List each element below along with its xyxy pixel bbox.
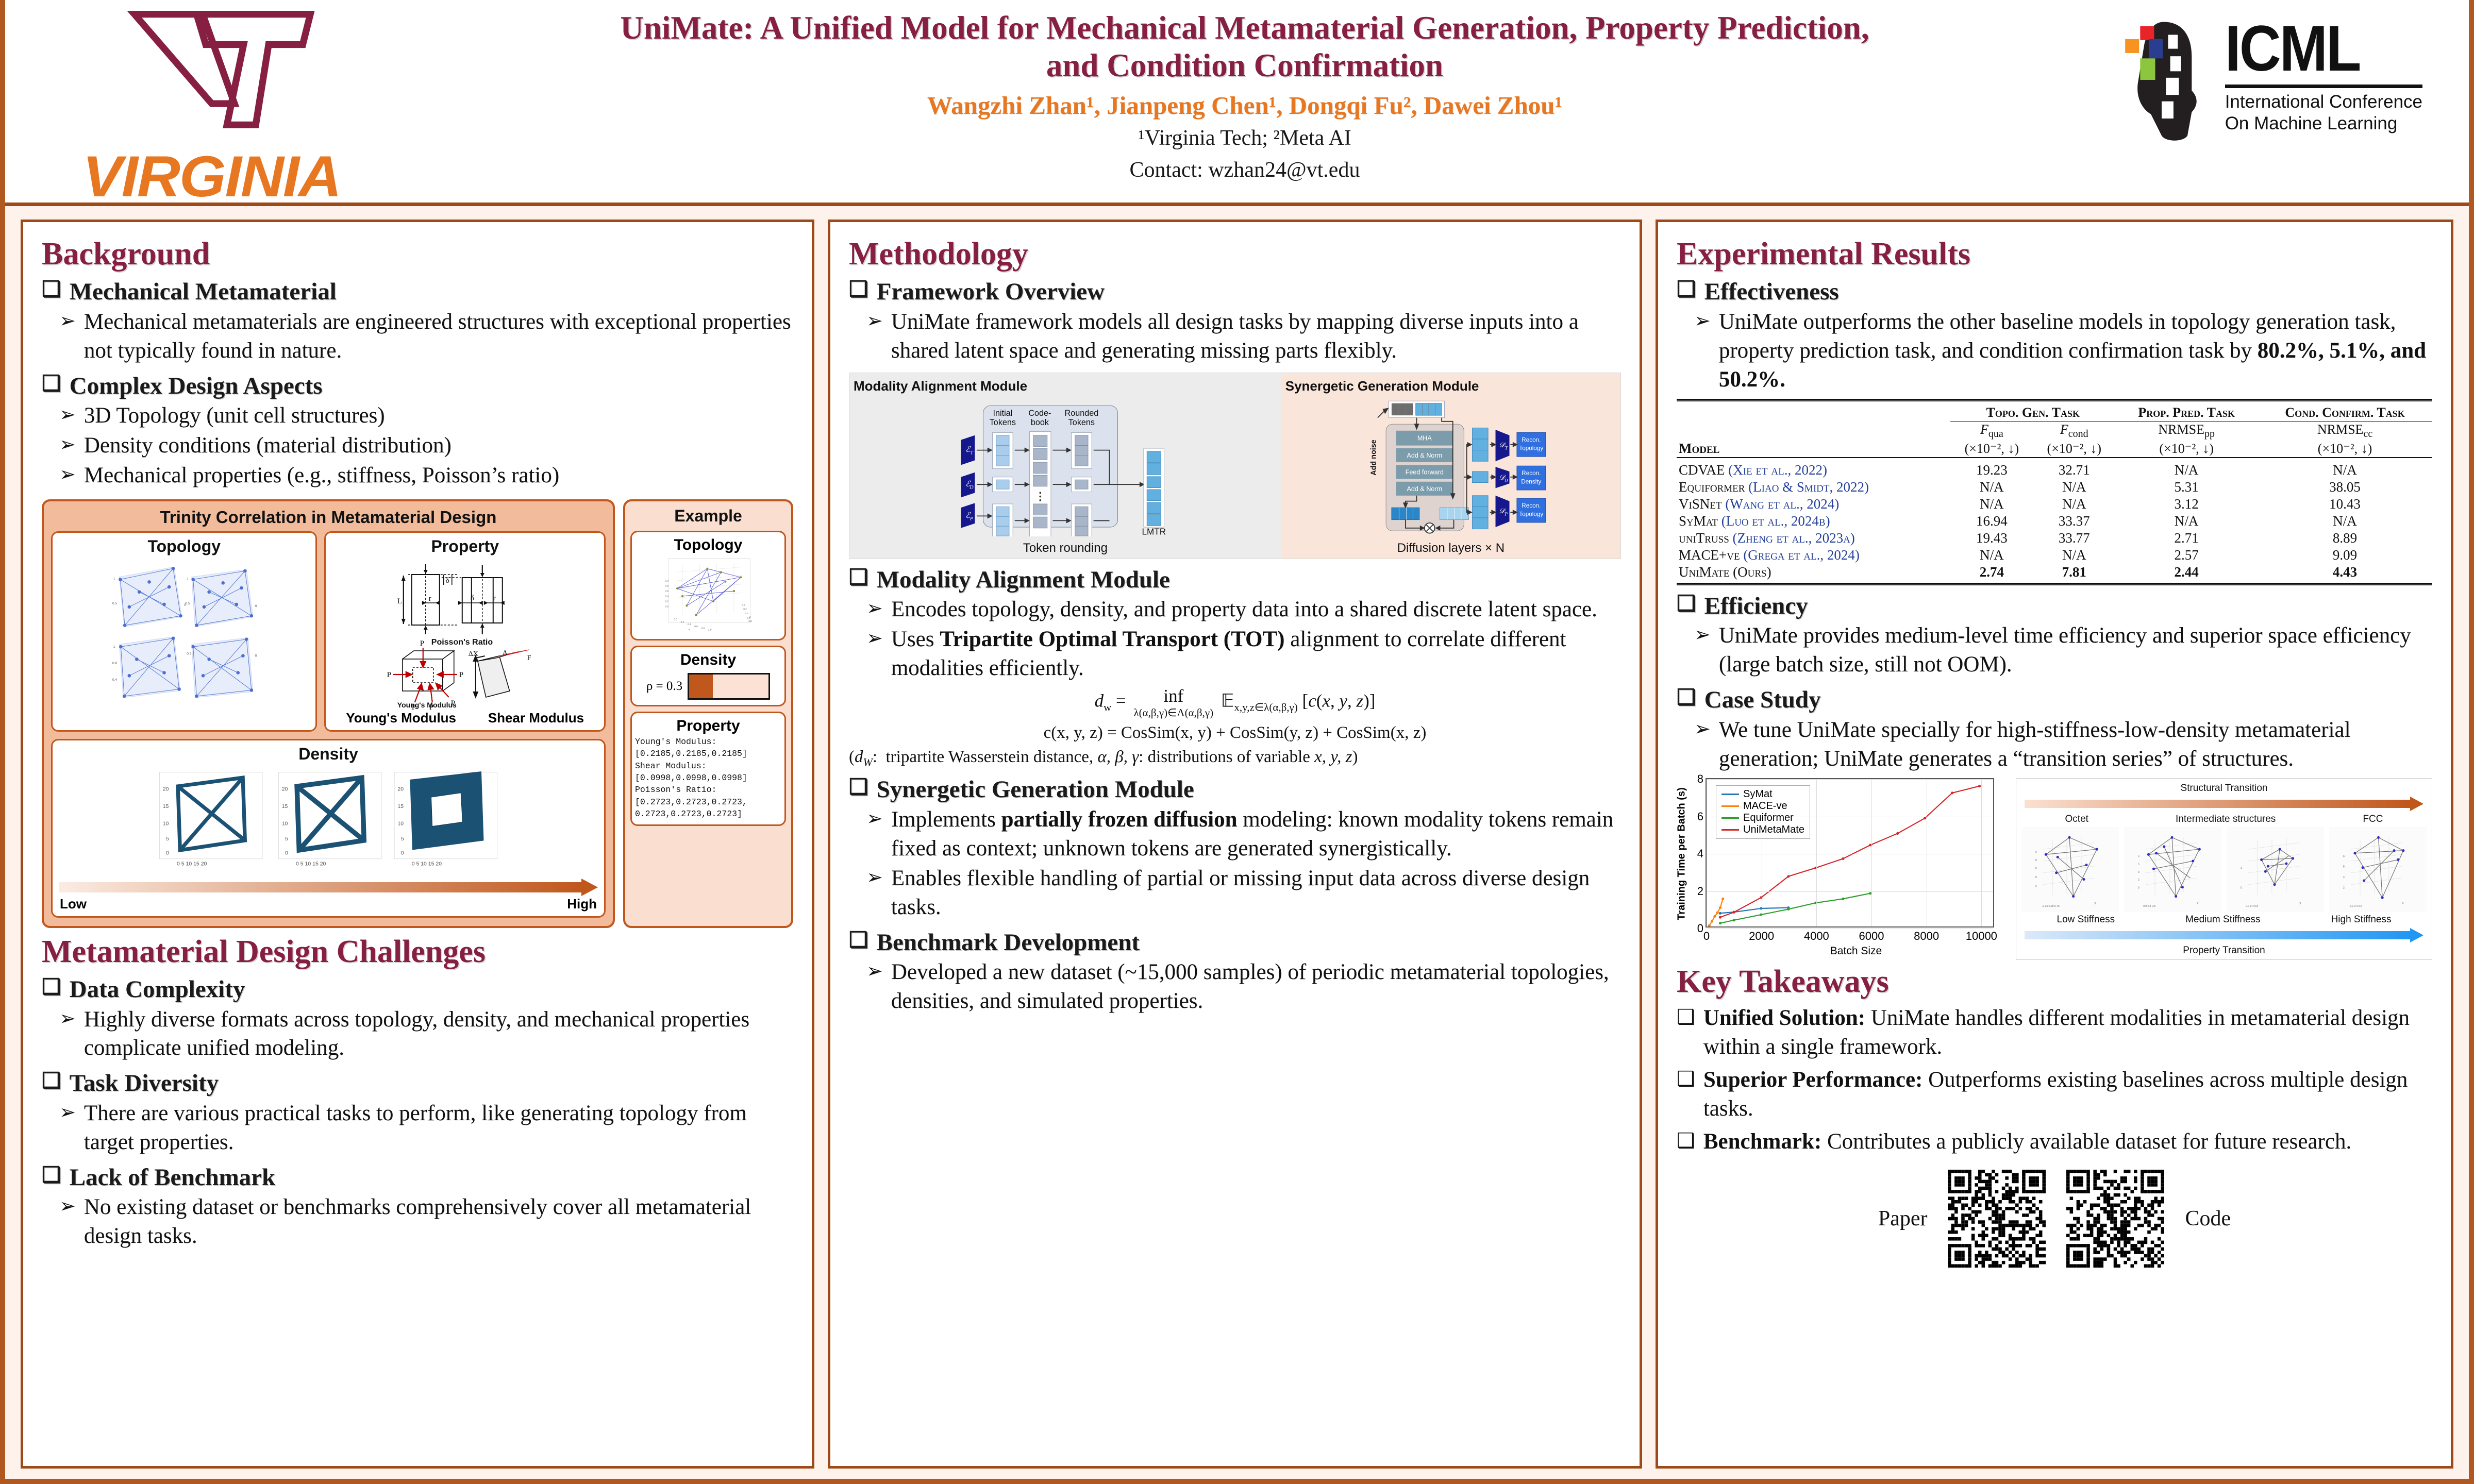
cell-value: N/A [2115,513,2258,530]
property-diagrams: Lr δr δ Poisson's Ratio [330,557,600,712]
x-axis-tick: 6000 [1859,926,1884,943]
poster-title-line-2: and Condition Confirmation [469,47,2020,85]
modality-alignment-module-title: Modality Alignment Module [854,378,1277,394]
contact-email: Contact: wzhan24@vt.edu [469,157,2020,184]
chart-marker [1951,792,1953,795]
svg-text:0.0: 0.0 [742,603,745,606]
transition-lattice-cells: 50505 -0.25 0.25 0.75X [2021,827,2427,912]
svg-text:1: 1 [113,577,115,581]
metric-sub: qua [1988,428,2003,440]
cell-value: 16.94 [1950,513,2033,530]
bullet-item: ➢ Density conditions (material distribut… [59,431,793,460]
topology-lattice-plots: 10.50 10.50 10.80.4 0.50 [57,557,311,712]
column-results: Experimental Results ❑ Effectiveness ➢ U… [1656,220,2453,1469]
section-title-challenges: Metamaterial Design Challenges [42,935,793,969]
chart-marker [1719,922,1721,924]
cell-value: 8.89 [2258,530,2432,547]
svg-text:0 5 10 15 20: 0 5 10 15 20 [296,861,326,867]
property-line: Young's Modulus: [635,736,781,748]
density-gradient-arrow [59,879,598,896]
example-property-label: Property [635,717,781,735]
density-voxel-plots: 20151050 20151050 20151050 0 5 10 15 20 … [57,765,600,873]
cell-value: N/A [2033,547,2115,564]
svg-text:5: 5 [2035,867,2037,870]
svg-text:0.2: 0.2 [681,620,684,623]
heading-mechanical-metamaterial: ❑ Mechanical Metamaterial [42,278,793,306]
svg-text:Initial: Initial [993,409,1012,418]
bullet-item: ➢ 3D Topology (unit cell structures) [59,401,793,430]
chart-marker [1787,908,1790,910]
svg-text:0.8: 0.8 [665,584,669,587]
figures-row: Training Time per Batch (s) SyMatMACE-ve… [1677,778,2432,960]
improvement-percentages: 80.2%, 5.1%, and 50.2%. [1719,339,2426,392]
property-line: [0.0998,0.0998,0.0998] [635,772,781,784]
arrow-bullet-icon: ➢ [866,864,883,922]
stiffness-label: Low Stiffness [2057,914,2115,925]
svg-text:ΔX: ΔX [469,650,478,658]
svg-text:δ: δ [446,577,449,585]
chart-marker [1713,915,1716,918]
svg-text:Add & Norm: Add & Norm [1407,452,1442,459]
chart-marker [1719,916,1721,919]
y-axis-tick: 8 [1697,772,1707,786]
svg-text:0: 0 [401,850,404,856]
equation-legend: (dW: tripartite Wasserstein distance, α,… [849,748,1621,769]
chart-series-svg [1707,779,1993,926]
arrow-bullet-icon: ➢ [59,401,76,430]
svg-text:0.8: 0.8 [701,627,705,629]
chart-marker [1716,912,1719,914]
affiliations: ¹Virginia Tech; ²Meta AI [469,125,2020,152]
trinity-figure: Trinity Correlation in Metamaterial Desi… [42,499,793,928]
svg-text:10: 10 [282,820,288,827]
checkbox-bullet-icon: ❑ [849,929,868,952]
poster-body: Background ❑ Mechanical Metamaterial ➢ M… [5,206,2469,1484]
metric-name: F [2060,422,2068,437]
svg-text:0: 0 [255,604,257,608]
arrow-bullet-icon: ➢ [59,461,76,490]
trinity-density-label: Density [57,745,600,764]
youngs-modulus-caption: Young's Modulus [346,710,456,726]
cell-value: N/A [2115,462,2258,479]
icml-logo: ICML International Conference On Machine… [2108,15,2422,144]
cell-value: N/A [2258,462,2432,479]
chart-marker [1842,898,1844,900]
svg-text:15: 15 [397,803,404,810]
svg-text:0.2: 0.2 [743,608,747,610]
arrow-bullet-icon: ➢ [1694,621,1711,679]
qr-code-label: Code [2185,1206,2231,1231]
structural-transition-arrow [2025,797,2423,811]
takeaway-label: Benchmark: [1703,1129,1821,1154]
structure-name: Octet [2065,814,2088,825]
svg-text:6: 6 [2138,855,2139,858]
model-name: uniTruss [1679,530,1729,546]
example-property-card: Property Young's Modulus: [0.2185,0.2185… [630,712,786,826]
trinity-panel: Trinity Correlation in Metamaterial Desi… [42,499,615,928]
arrow-bullet-icon: ➢ [866,308,883,365]
cell-value: 38.05 [2258,479,2432,496]
vt-mark-icon [113,5,356,134]
svg-text:Density: Density [1521,478,1541,485]
chart-marker [1719,906,1721,909]
example-density-label: Density [635,651,781,669]
svg-text:5: 5 [2343,866,2345,869]
table-row: ViSNet (Wang et al., 2024) N/A N/A 3.12 … [1677,496,2432,513]
heading-lack-of-benchmark: ❑ Lack of Benchmark [42,1164,793,1191]
cell-value: 2.44 [2115,564,2258,581]
svg-text:20: 20 [163,786,169,792]
heading-case-study: ❑ Case Study [1677,686,2432,714]
property-line: 0.2723,0.2723,0.2723] [635,808,781,820]
svg-text:Tokens: Tokens [990,418,1016,427]
lattice-intermediate-1: 65320 0.0 0.4 0.8X [2124,827,2221,912]
svg-text:0: 0 [255,654,257,657]
svg-text:15: 15 [163,803,169,810]
table-row: uniTruss (Zheng et al., 2023a) 19.43 33.… [1677,530,2432,547]
svg-text:0: 0 [2138,887,2139,890]
svg-text:MHA: MHA [1417,434,1432,442]
synergetic-generation-svg: Add noise MHAAdd & Norm [1285,397,1616,536]
metric-name: NRMSE [2317,422,2364,437]
svg-text:0.4: 0.4 [688,623,691,626]
cell-value: 2.71 [2115,530,2258,547]
svg-text:0.5: 0.5 [185,602,190,605]
add-noise-label: Add noise [1369,440,1378,476]
checkbox-bullet-icon: ❑ [42,1164,61,1187]
svg-text:10: 10 [397,820,404,827]
svg-text:A: A [503,649,508,657]
youngs-modulus-label: Young's Modulus [397,701,457,709]
bullet-item: ➢ Developed a new dataset (~15,000 sampl… [866,958,1621,1016]
model-citation: (Luo et al., 2024b) [1721,513,1830,529]
token-rounding-caption: Token rounding [854,541,1277,555]
model-citation: (Ours) [1733,564,1771,580]
efficiency-plot-area: Training Time per Batch (s) SyMatMACE-ve… [1706,778,1994,927]
table-row: CDVAE (Xie et al., 2022) 19.23 32.71 N/A… [1677,462,2432,479]
table-row: SyMat (Luo et al., 2024b) 16.94 33.37 N/… [1677,513,2432,530]
svg-text:0.0 0.4 0.8: 0.0 0.4 0.8 [2246,905,2258,908]
svg-text:20: 20 [282,786,288,792]
svg-text:5: 5 [401,836,404,842]
svg-text:D: D [969,484,974,490]
svg-text:1: 1 [113,645,115,649]
trinity-topology-label: Topology [57,537,311,556]
synergetic-generation-module-panel: Synergetic Generation Module Add noise [1281,373,1620,559]
svg-text:0.2 0.4 0.6: 0.2 0.4 0.6 [2350,905,2362,908]
svg-text:0.6: 0.6 [665,589,669,592]
property-transition-arrow [2025,929,2423,942]
icml-subtitle-1: International Conference [2225,91,2422,113]
model-citation: (Xie et al., 2022) [1728,462,1827,478]
bullet-item: ➢ UniMate framework models all design ta… [866,308,1621,365]
svg-text:5: 5 [2035,885,2037,888]
svg-text:Code-: Code- [1028,409,1051,418]
heading-data-complexity: ❑ Data Complexity [42,976,793,1003]
svg-text:0: 0 [2035,859,2037,862]
bullet-item: ➢ Enables flexible handling of partial o… [866,864,1621,922]
author-list: Wangzhi Zhan¹, Jianpeng Chen¹, Dongqi Fu… [469,91,2020,120]
svg-text:3: 3 [2138,871,2139,874]
takeaway-text: Contributes a publicly available dataset… [1821,1129,2351,1154]
density-low-label: Low [60,896,87,912]
svg-text:D: D [1504,478,1508,483]
arrow-bullet-icon: ➢ [866,625,883,683]
metric-name: NRMSE [2158,422,2204,437]
qr-code-code[interactable] [2066,1170,2164,1268]
bullet-item: ➢ Highly diverse formats across topology… [59,1005,793,1063]
model-name: Equiformer [1679,479,1745,495]
svg-text:Topology: Topology [1519,511,1543,517]
example-topology-label: Topology [635,536,781,554]
architecture-diagram: Modality Alignment Module InitialTokens … [849,373,1621,559]
structural-transition-figure: Structural Transition Octet Intermediate… [2016,778,2432,960]
svg-text:Recon.: Recon. [1522,502,1541,509]
svg-text:0.8: 0.8 [112,662,118,665]
results-table: Model Topo. Gen. Task Prop. Pred. Task C… [1677,399,2432,585]
x-axis-tick: 4000 [1804,926,1829,943]
arrow-bullet-icon: ➢ [59,431,76,460]
svg-text:X: X [2094,902,2096,905]
checkbox-bullet-icon: ❑ [1677,1066,1695,1123]
x-axis-tick: 8000 [1914,926,1939,943]
example-density-value: ρ = 0.3 [646,679,682,694]
svg-text:0.6: 0.6 [694,625,698,628]
trinity-property-label: Property [330,537,600,556]
checkbox-bullet-icon: ❑ [1677,593,1696,615]
svg-text:4: 4 [2343,876,2345,879]
arrow-bullet-icon: ➢ [866,805,883,863]
metric-sub: cc [2363,428,2372,440]
cell-value: N/A [1950,496,2033,513]
column-background: Background ❑ Mechanical Metamaterial ➢ M… [21,220,814,1469]
arrow-bullet-icon: ➢ [1694,716,1711,773]
poster-title-line-1: UniMate: A Unified Model for Mechanical … [469,9,2020,47]
bullet-item: ➢ Mechanical properties (e.g., stiffness… [59,461,793,490]
icml-subtitle-2: On Machine Learning [2225,113,2422,135]
heading-complex-design-aspects: ❑ Complex Design Aspects [42,373,793,400]
svg-text:F: F [527,654,531,662]
cell-value: 2.74 [1950,564,2033,581]
table-header-model: Model [1679,441,1719,456]
property-line: [0.2723,0.2723,0.2723, [635,796,781,808]
density-high-label: High [567,896,597,912]
cell-value: 5.31 [2115,479,2258,496]
svg-text:r: r [493,594,496,602]
svg-text:5: 5 [2035,851,2037,854]
x-axis-tick: 0 [1703,926,1710,943]
model-citation: (Wang et al., 2024) [1725,496,1839,512]
arrow-bullet-icon: ➢ [59,1193,76,1251]
property-transition-label: Property Transition [2021,945,2427,956]
equation-wasserstein: dw = inf λ(α,β,γ)∈Λ(α,β,γ) 𝔼x,y,z∈λ(α,β,… [849,686,1621,719]
bullet-item: ➢ UniMate provides medium-level time eff… [1694,621,2432,679]
chart-marker [1732,911,1735,914]
cell-value: 32.71 [2033,462,2115,479]
cell-value: N/A [2033,479,2115,496]
lattice-intermediate-2: 30 0.0 0.4 0.8X [2227,827,2324,912]
arrow-bullet-icon: ➢ [1694,308,1711,394]
bullet-item: ➢ There are various practical tasks to p… [59,1099,793,1157]
arrow-bullet-icon: ➢ [866,595,883,624]
section-title-takeaways: Key Takeaways [1677,965,2432,999]
icml-head-icon [2108,15,2216,144]
cell-value: N/A [2033,496,2115,513]
takeaway-label: Superior Performance: [1703,1068,1923,1092]
trinity-property-card: Property [324,531,606,732]
svg-text:1.0: 1.0 [708,628,712,631]
cell-value: 2.57 [2115,547,2258,564]
trinity-density-card: Density [51,739,606,918]
equation-block: dw = inf λ(α,β,γ)∈Λ(α,β,γ) 𝔼x,y,z∈λ(α,β,… [849,686,1621,769]
heading-synergetic-generation-module: ❑ Synergetic Generation Module [849,776,1621,803]
svg-text:Feed forward: Feed forward [1405,468,1443,476]
qr-code-paper[interactable] [1948,1170,2046,1268]
modality-alignment-svg: InitialTokens Code-book RoundedTokens ℰT [854,397,1277,536]
checkbox-bullet-icon: ❑ [849,776,868,799]
icml-name: ICML [2225,18,2422,79]
svg-text:P: P [459,671,463,679]
checkbox-bullet-icon: ❑ [849,566,868,589]
bullet-item: ➢ Encodes topology, density, and propert… [866,595,1621,624]
svg-text:0.0: 0.0 [665,605,669,608]
lattice-octet: 50505 -0.25 0.25 0.75X [2021,827,2119,912]
bullet-item: ➢ Mechanical metamaterials are engineere… [59,308,793,365]
model-name: MACE+ve [1679,547,1740,563]
modality-alignment-module-panel: Modality Alignment Module InitialTokens … [849,373,1281,559]
model-name: ViSNet [1679,496,1722,512]
y-axis-tick: 6 [1697,810,1707,823]
svg-text:Y: Y [689,628,690,631]
svg-text:L: L [397,597,402,605]
x-axis-tick: 10000 [1966,926,1997,943]
checkbox-bullet-icon: ❑ [1677,686,1696,709]
heading-modality-alignment-module: ❑ Modality Alignment Module [849,566,1621,594]
svg-text:0.0: 0.0 [674,618,677,620]
table-row: MACE+ve (Grega et al., 2024) N/A N/A 2.5… [1677,547,2432,564]
svg-text:X: X [2197,902,2199,905]
table-group-cond: Cond. Confirm. Task [2285,405,2404,420]
svg-text:Tokens: Tokens [1068,418,1095,427]
svg-text:1: 1 [187,577,189,581]
arrow-bullet-icon: ➢ [59,1005,76,1063]
chart-marker [1721,898,1724,900]
example-panel: Example Topology [623,499,793,928]
checkbox-bullet-icon: ❑ [42,976,61,999]
svg-text:3: 3 [2241,867,2242,870]
bullet-item: ➢ We tune UniMate specially for high-sti… [1694,716,2432,773]
heading-effectiveness: ❑ Effectiveness [1677,278,2432,306]
y-axis-tick: 4 [1697,847,1707,861]
bullet-item-effectiveness: ➢ UniMate outperforms the other baseline… [1694,308,2432,394]
lmtr-label: LMTR [1142,527,1166,536]
checkbox-bullet-icon: ❑ [1677,1127,1695,1156]
table-row: Equiformer (Liao & Smidt, 2022) N/A N/A … [1677,479,2432,496]
svg-text:P: P [387,671,391,679]
cell-value: 33.37 [2033,513,2115,530]
table-group-prop: Prop. Pred. Task [2138,405,2235,420]
svg-text:P: P [1504,511,1508,516]
svg-text:P: P [420,639,424,648]
svg-text:Rounded: Rounded [1065,409,1099,418]
svg-text:X: X [2402,902,2404,905]
svg-text:5: 5 [285,836,288,842]
trinity-topology-card: Topology [51,531,317,732]
svg-text:5: 5 [166,836,169,842]
property-line: [0.2185,0.2185,0.2185] [635,748,781,760]
svg-text:r: r [429,595,431,603]
svg-text:Recon.: Recon. [1522,470,1541,477]
svg-text:20: 20 [397,786,404,792]
equation-cost: c(x, y, z) = CosSim(x, y) + CosSim(y, z)… [849,723,1621,743]
chart-marker [1978,785,1981,787]
svg-text:5: 5 [2138,863,2139,866]
y-axis-tick: 2 [1697,885,1707,898]
model-name: UniMate [1679,564,1729,580]
frozen-diffusion-bold: partially frozen diffusion [1001,807,1238,832]
example-title: Example [630,507,786,526]
structural-transition-label: Structural Transition [2021,783,2427,794]
svg-text:0.4: 0.4 [112,678,118,682]
checkbox-bullet-icon: ❑ [1677,278,1696,301]
svg-text:0 5 10 15 20: 0 5 10 15 20 [412,861,442,867]
svg-text:X: X [2300,902,2302,905]
stiffness-label: High Stiffness [2331,914,2392,925]
property-line: Poisson's Ratio: [635,784,781,796]
model-citation: (Zheng et al., 2023a) [1733,530,1855,546]
metric-unit: (×10⁻², ↓) [1950,441,2033,458]
poster-root: VIRGINIA TECH UniMate: A Unified Model f… [0,0,2474,1484]
section-title-results: Experimental Results [1677,238,2432,271]
example-density-card: Density ρ = 0.3 [630,646,786,706]
svg-text:0: 0 [2241,887,2242,890]
metric-unit: (×10⁻², ↓) [2258,441,2432,458]
column-methodology: Methodology ❑ Framework Overview ➢ UniMa… [828,220,1642,1469]
svg-text:10: 10 [163,820,169,827]
takeaway-unified-solution: ❑ Unified Solution: UniMate handles diff… [1677,1004,2432,1061]
svg-text:-0.25 0.25 0.75: -0.25 0.25 0.75 [2042,905,2060,908]
shear-modulus-caption: Shear Modulus [488,710,584,726]
svg-text:1.0: 1.0 [665,579,669,582]
example-topology-card: Topology [630,531,786,640]
checkbox-bullet-icon: ❑ [1677,1004,1695,1061]
bullet-item: ➢ No existing dataset or benchmarks comp… [59,1193,793,1251]
property-line: Shear Modulus: [635,760,781,772]
density-ratio-bar [688,673,770,700]
bullet-item-frozen-diffusion: ➢ Implements partially frozen diffusion … [866,805,1621,863]
synergetic-generation-module-title: Synergetic Generation Module [1285,378,1616,394]
structure-name: FCC [2363,814,2383,825]
arrow-bullet-icon: ➢ [59,1099,76,1157]
metric-name: F [1980,422,1988,437]
heading-task-diversity: ❑ Task Diversity [42,1070,793,1097]
poster-header: VIRGINIA TECH UniMate: A Unified Model f… [5,0,2469,206]
metric-unit: (×10⁻², ↓) [2115,441,2258,458]
lattice-fcc: 6542 0.2 0.4 0.6X [2329,827,2427,912]
cell-value: 19.43 [1950,530,2033,547]
model-citation: (Grega et al., 2024) [1743,547,1860,563]
svg-text:P: P [969,516,973,521]
svg-text:0: 0 [166,850,169,856]
bullet-item-tot: ➢ Uses Tripartite Optimal Transport (TOT… [866,625,1621,683]
chart-marker [1719,912,1721,915]
efficiency-chart: Training Time per Batch (s) SyMatMACE-ve… [1677,778,2007,957]
svg-text:6: 6 [2343,855,2345,858]
takeaway-benchmark: ❑ Benchmark: Contributes a publicly avai… [1677,1127,2432,1156]
metric-unit: (×10⁻², ↓) [2033,441,2115,458]
chart-marker [1711,920,1713,923]
cell-value: 19.23 [1950,462,2033,479]
